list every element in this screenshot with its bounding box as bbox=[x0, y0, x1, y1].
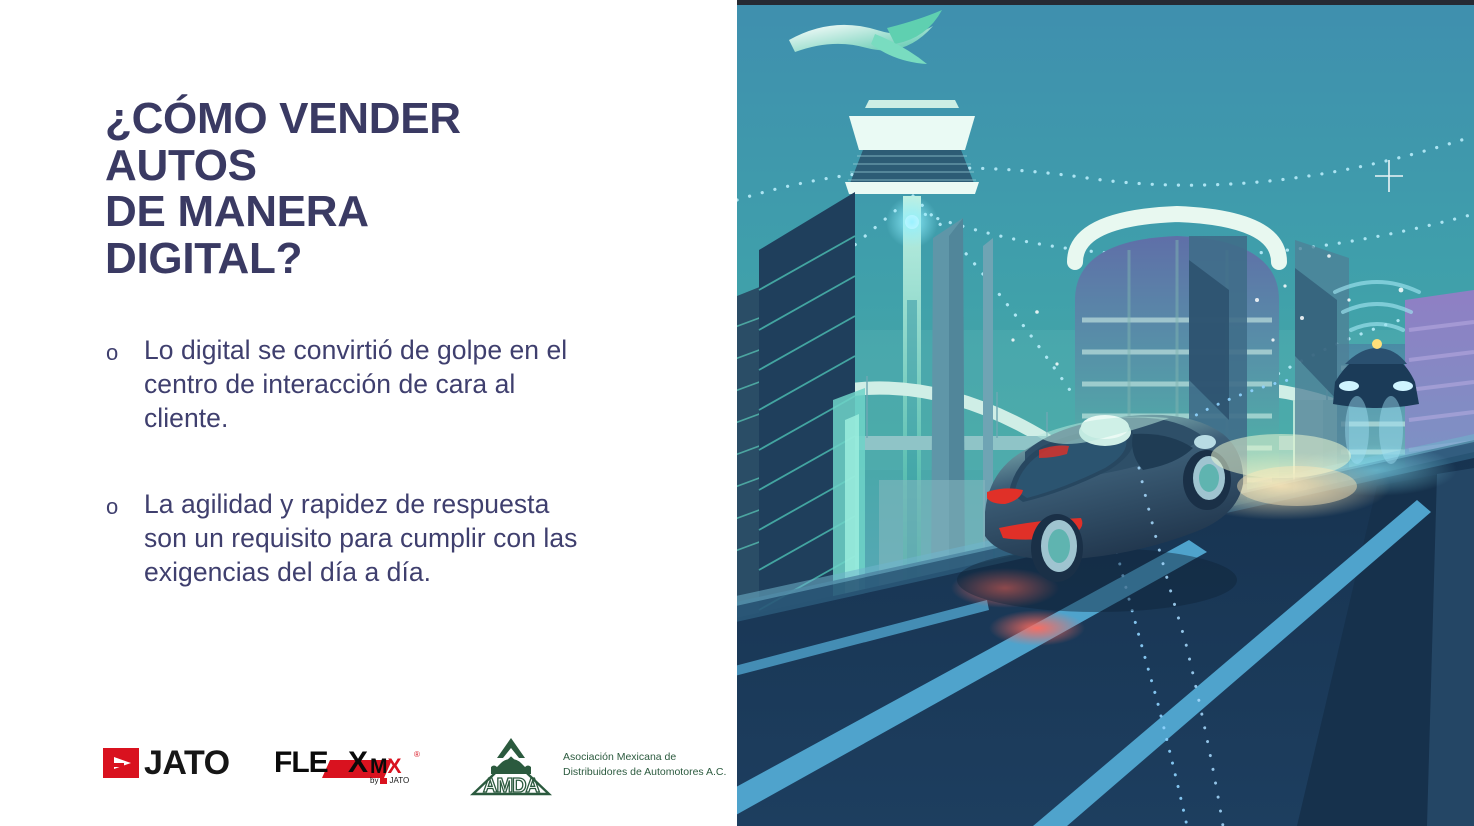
bullet-1-line-2: centro de interacción de cara al bbox=[144, 367, 700, 401]
jato-small-mark-icon bbox=[380, 778, 387, 784]
bullet-item: o Lo digital se convirtió de golpe en el… bbox=[100, 333, 700, 435]
bullet-1-line-1: Lo digital se convirtió de golpe en el bbox=[144, 333, 700, 367]
title-line-1: ¿CÓMO VENDER bbox=[105, 96, 665, 143]
amda-tagline: Asociación Mexicana de Distribuidores de… bbox=[563, 750, 726, 780]
amda-tagline-line-1: Asociación Mexicana de bbox=[563, 750, 726, 765]
amda-mountain-icon: AMDA bbox=[467, 736, 555, 796]
title-line-2: AUTOS bbox=[105, 143, 665, 190]
flex-by-jato: by JATO bbox=[370, 776, 409, 785]
amda-tagline-line-2: Distribuidores de Automotores A.C. bbox=[563, 765, 726, 780]
flex-mx-m: M bbox=[370, 755, 388, 778]
flex-mx-x: X bbox=[388, 755, 402, 778]
jato-logo: JATO bbox=[103, 744, 230, 782]
flex-by-label: by bbox=[370, 776, 378, 785]
jato-wordmark: JATO bbox=[144, 746, 230, 780]
bullet-1-line-3: cliente. bbox=[144, 401, 700, 435]
title-line-4: DIGITAL? bbox=[105, 236, 665, 283]
bullet-2-line-2: son un requisito para cumplir con las bbox=[144, 521, 700, 555]
slide-content-pane: ¿CÓMO VENDER AUTOS DE MANERA DIGITAL? o … bbox=[0, 0, 737, 826]
bullet-item: o La agilidad y rapidez de respuesta son… bbox=[100, 487, 700, 589]
slide-artwork-image bbox=[737, 0, 1474, 826]
flex-registered-mark: ® bbox=[414, 750, 420, 759]
flex-mx-suffix: MX bbox=[370, 756, 402, 777]
bullet-text: La agilidad y rapidez de respuesta son u… bbox=[144, 487, 700, 589]
flexmx-logo: FLE X MX ® by JATO bbox=[274, 742, 424, 788]
title-line-3: DE MANERA bbox=[105, 189, 665, 236]
slide-title: ¿CÓMO VENDER AUTOS DE MANERA DIGITAL? bbox=[105, 96, 665, 283]
logo-row: JATO FLE X MX ® by JATO bbox=[0, 734, 737, 804]
bullet-marker-icon: o bbox=[100, 333, 144, 373]
bullet-list: o Lo digital se convirtió de golpe en el… bbox=[100, 333, 700, 641]
bullet-marker-icon: o bbox=[100, 487, 144, 527]
artwork-top-edge-strip bbox=[737, 0, 1474, 5]
jato-arrow-icon bbox=[103, 748, 139, 778]
presentation-slide: ¿CÓMO VENDER AUTOS DE MANERA DIGITAL? o … bbox=[0, 0, 1474, 826]
amda-logo: AMDA Asociación Mexicana de Distribuidor… bbox=[467, 736, 712, 800]
flex-wordmark: FLE bbox=[274, 748, 328, 778]
flex-by-brand: JATO bbox=[389, 776, 409, 785]
bullet-2-line-1: La agilidad y rapidez de respuesta bbox=[144, 487, 700, 521]
svg-text:AMDA: AMDA bbox=[483, 775, 540, 796]
taillight-glow-2 bbox=[989, 610, 1085, 646]
bullet-text: Lo digital se convirtió de golpe en el c… bbox=[144, 333, 700, 435]
flex-x-letter: X bbox=[348, 748, 368, 778]
bullet-2-line-3: exigencias del día a día. bbox=[144, 555, 700, 589]
